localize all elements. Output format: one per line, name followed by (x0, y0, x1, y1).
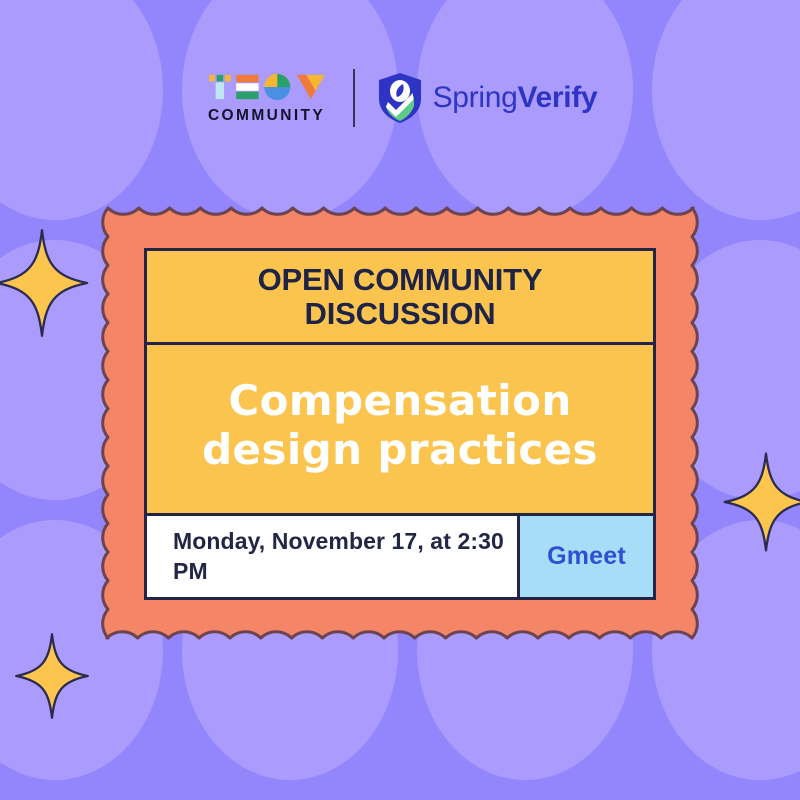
sparkle-right-icon (722, 450, 800, 554)
springverify-shield-icon (377, 72, 423, 124)
springverify-wordmark: SpringVerify (433, 83, 598, 113)
stamp-inner-panels: OPEN COMMUNITY DISCUSSION Compensation d… (144, 248, 656, 600)
springverify-logo: SpringVerify (377, 72, 598, 124)
event-datetime: Monday, November 17, at 2:30 PM (147, 516, 517, 597)
gmeet-link-button[interactable]: Gmeet (517, 516, 653, 597)
tedx-community-marks-icon (203, 73, 331, 101)
discussion-footer-panel: Monday, November 17, at 2:30 PM Gmeet (147, 513, 653, 597)
discussion-kicker-text: OPEN COMMUNITY DISCUSSION (165, 263, 635, 329)
event-poster: COMMUNITY SpringVerify (0, 0, 800, 800)
sparkle-bottom-icon (14, 632, 90, 720)
event-stamp-card: OPEN COMMUNITY DISCUSSION Compensation d… (86, 186, 714, 660)
gmeet-link-label: Gmeet (547, 542, 626, 571)
logo-divider (353, 69, 355, 127)
springverify-word-bold: Verify (517, 81, 597, 114)
discussion-kicker-panel: OPEN COMMUNITY DISCUSSION (147, 251, 653, 345)
discussion-topic-text: Compensation design practices (169, 376, 631, 474)
community-logo-label: COMMUNITY (208, 108, 325, 124)
community-logo: COMMUNITY (203, 73, 331, 124)
event-datetime-text: Monday, November 17, at 2:30 PM (173, 527, 517, 587)
discussion-topic-panel: Compensation design practices (147, 345, 653, 513)
logo-bar: COMMUNITY SpringVerify (0, 52, 800, 144)
springverify-word-light: Spring (433, 81, 518, 114)
sparkle-left-icon (0, 228, 90, 338)
